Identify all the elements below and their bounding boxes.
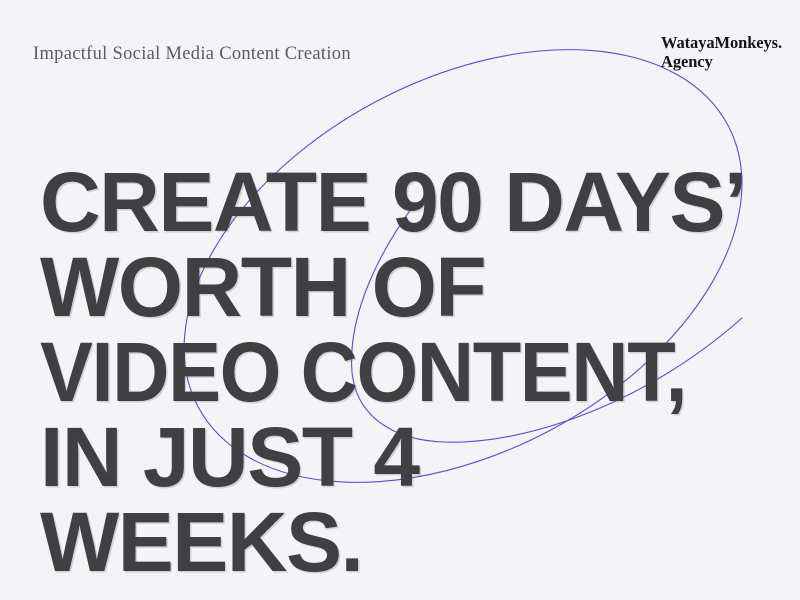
eyebrow-text: Impactful Social Media Content Creation (33, 44, 351, 65)
headline-line-4: IN JUST 4 (40, 415, 746, 500)
slide-canvas: Impactful Social Media Content Creation … (0, 0, 800, 600)
page-title: CREATE 90 DAYS’ WORTH OF VIDEO CONTENT, … (40, 160, 746, 585)
headline-line-5: WEEKS. (40, 500, 746, 585)
brand-logo[interactable]: WatayaMonkeys. Agency (661, 33, 782, 72)
headline-line-2: WORTH OF (40, 245, 746, 330)
brand-logo-line-1: WatayaMonkeys. (661, 33, 782, 52)
headline-line-1: CREATE 90 DAYS’ (40, 160, 746, 245)
headline-line-3: VIDEO CONTENT, (40, 330, 707, 415)
brand-logo-line-2: Agency (661, 52, 782, 71)
